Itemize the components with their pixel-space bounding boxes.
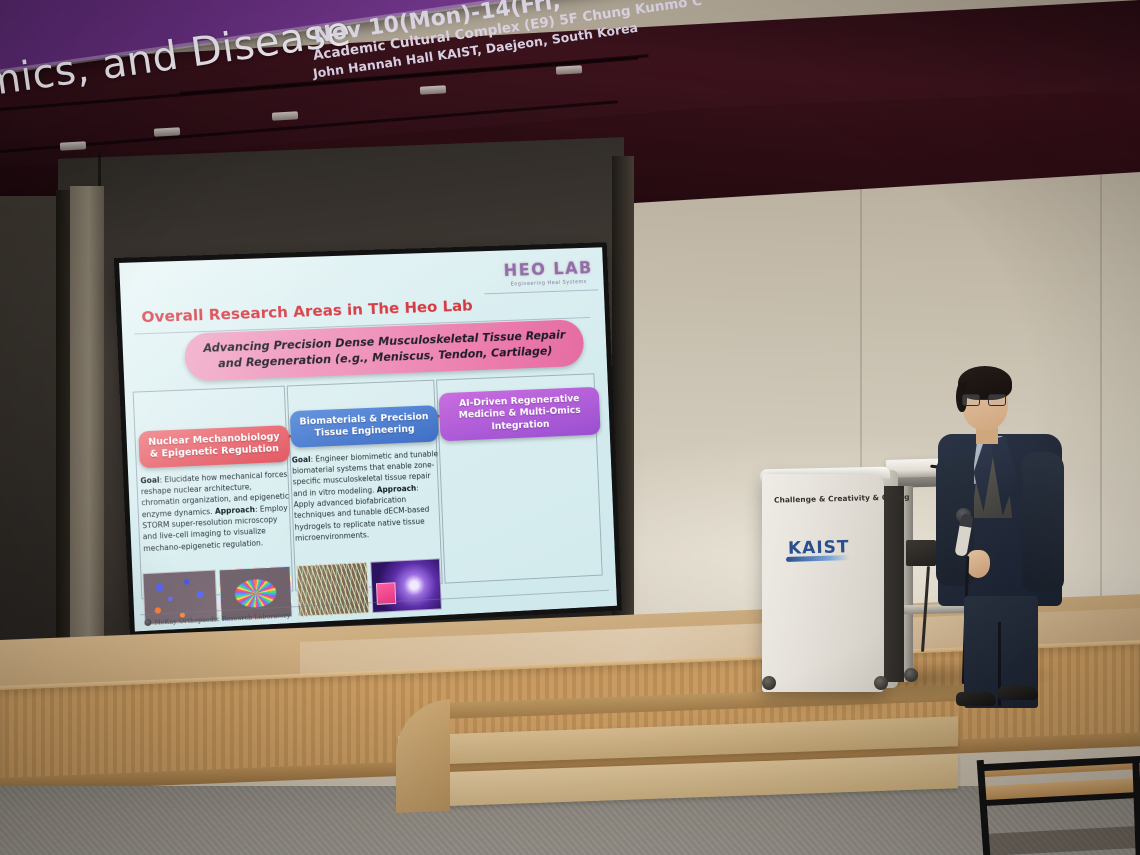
eyeglass-lens: [962, 394, 980, 406]
presentation-photo-scene: amics, and Disease Nov 10(Mon)-14(Fri, A…: [0, 0, 1140, 855]
eyeglasses-icon: [962, 394, 1008, 406]
podium-caster: [904, 668, 918, 682]
ceiling-light: [420, 85, 446, 94]
ceiling-light: [154, 127, 180, 136]
speaker-right-arm: [1022, 452, 1064, 592]
speaker-shoe: [956, 692, 996, 706]
wall-column: [70, 186, 104, 652]
ceiling-light: [556, 65, 582, 74]
speaker-hand: [966, 550, 990, 578]
bench-shadow: [984, 826, 1139, 855]
eyeglass-lens: [988, 394, 1006, 406]
speaker-shoe: [998, 686, 1038, 700]
speaker-presenter: [930, 360, 1070, 690]
podium-cabinet: [762, 474, 884, 692]
ceiling-light: [272, 111, 298, 120]
podium-caster: [762, 676, 776, 690]
projection-screen-frame: [114, 242, 622, 636]
podium-caster: [874, 676, 888, 690]
podium-leg: [904, 486, 913, 682]
eyeglass-bridge: [980, 399, 988, 400]
auditorium-bench[interactable]: [966, 760, 1140, 855]
left-dark-doorway: [0, 196, 62, 648]
ceiling-light: [60, 141, 86, 150]
